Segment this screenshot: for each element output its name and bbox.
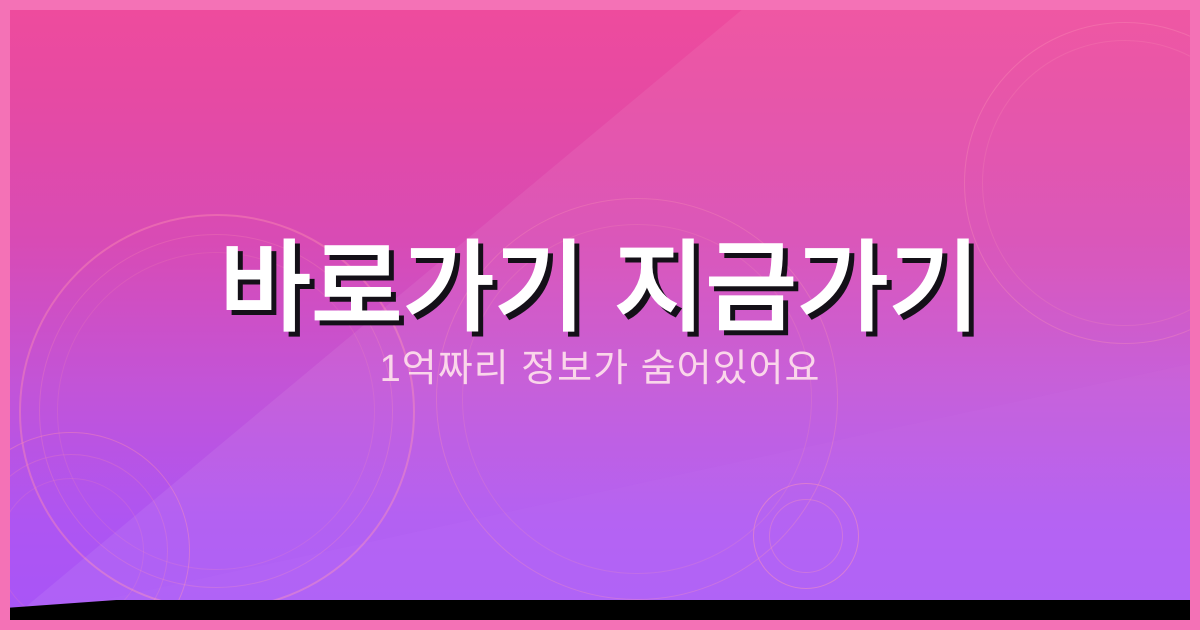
ring-lowerleft-outer	[10, 432, 190, 620]
ring-bottomcenter-outer	[753, 483, 859, 589]
blob-rocket-topleft	[27, 24, 163, 172]
ring-lowerleft-inner	[10, 478, 144, 620]
blob-note-upperleft	[304, 161, 356, 225]
blob-square-right-b	[1020, 498, 1078, 560]
blob-rocket-bottom	[741, 450, 856, 571]
blob-square-right-c	[1002, 510, 1028, 554]
bottom-accent-bar	[10, 600, 1190, 620]
ring-bottomcenter-inner	[769, 499, 843, 573]
banner-text-block: 바로가기 지금가기 1억짜리 정보가 숨어있어요	[10, 238, 1190, 391]
banner-headline: 바로가기 지금가기	[10, 238, 1190, 337]
promo-banner: 바로가기 지금가기 1억짜리 정보가 숨어있어요	[0, 0, 1200, 630]
blob-note-topleft	[164, 66, 222, 136]
banner-subheadline: 1억짜리 정보가 숨어있어요	[10, 349, 1190, 391]
blob-square-right-a	[982, 488, 1042, 550]
ring-lowerleft-mid	[10, 454, 168, 620]
banner-canvas: 바로가기 지금가기 1억짜리 정보가 숨어있어요	[10, 10, 1190, 620]
